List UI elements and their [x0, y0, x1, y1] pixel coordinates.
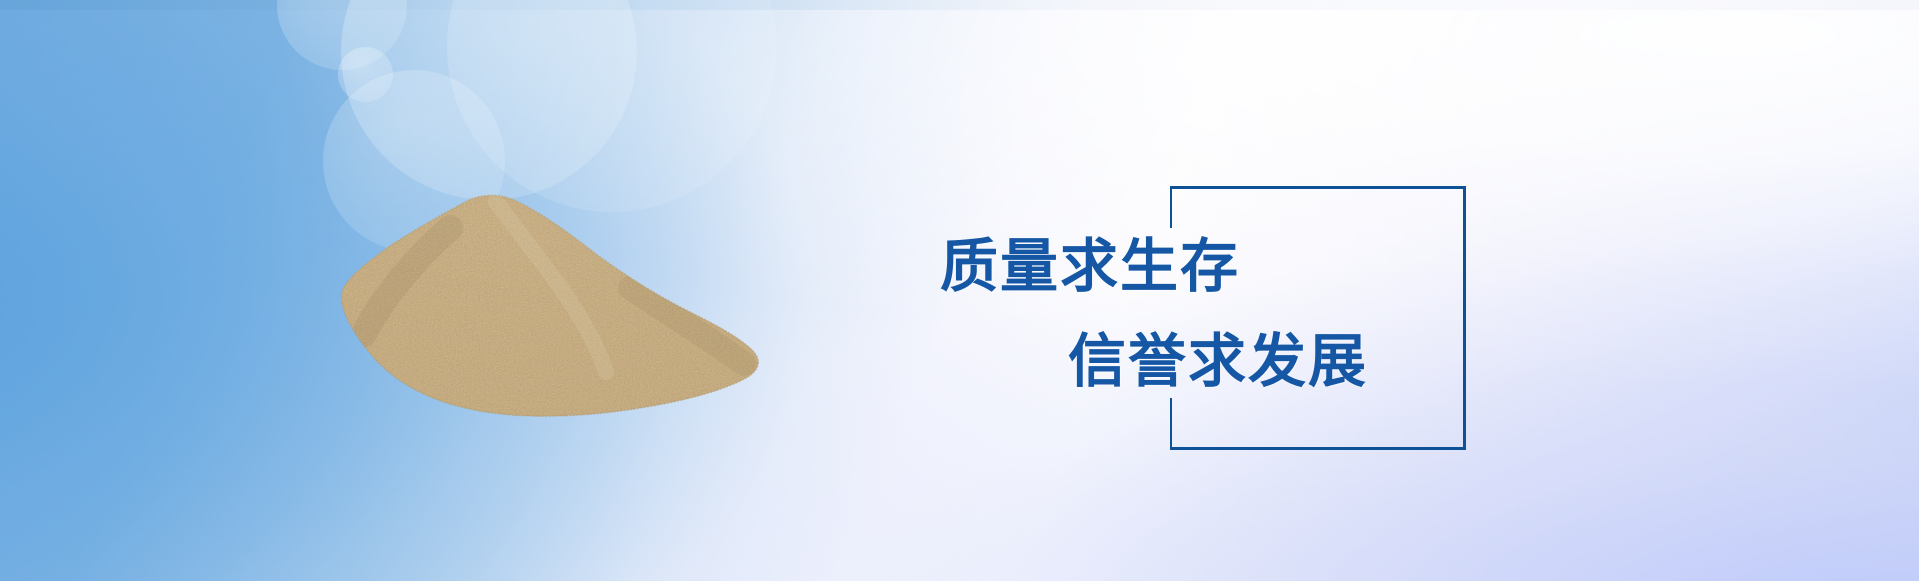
slogan-line-1: 质量求生存 — [940, 237, 1240, 295]
sand-pile-graphic — [300, 192, 770, 430]
slogan-block: 质量求生存 信誉求发展 — [940, 225, 1460, 415]
bubble-small — [338, 47, 393, 102]
slogan-line-2: 信誉求发展 — [1068, 332, 1368, 390]
quartz-sand-pile-image — [300, 192, 770, 430]
hero-banner: 质量求生存 信誉求发展 — [0, 0, 1919, 581]
